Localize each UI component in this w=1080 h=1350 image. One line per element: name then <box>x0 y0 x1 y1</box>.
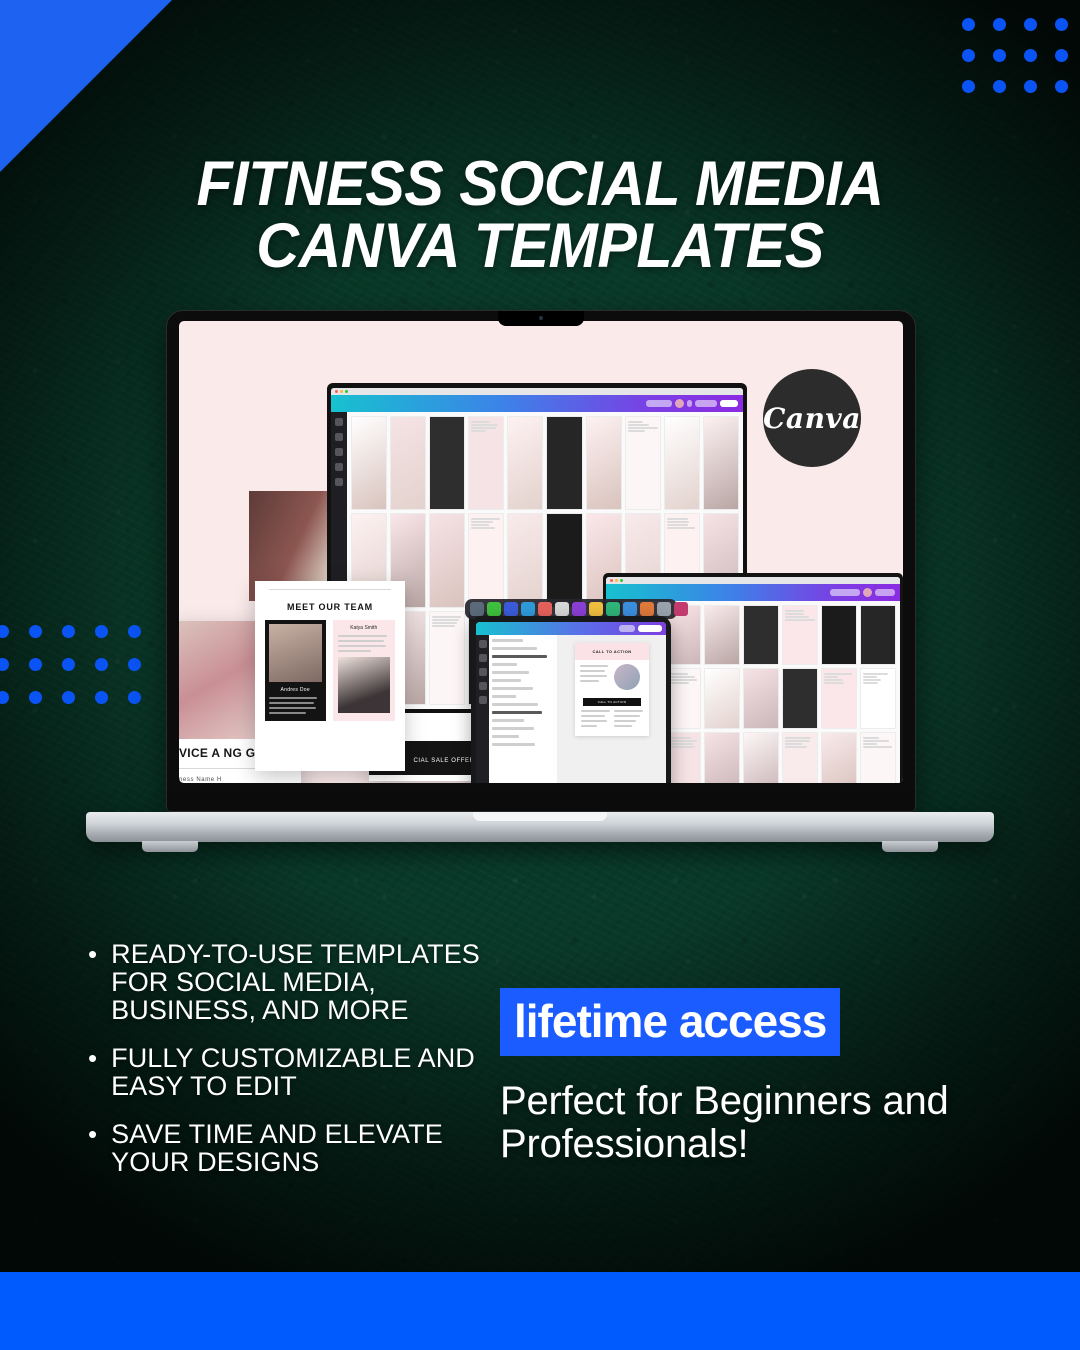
template-thumbnail <box>782 732 818 783</box>
lifetime-access-badge: lifetime access <box>500 988 840 1056</box>
template-thumbnail <box>860 732 896 783</box>
bullet-marker-icon: • <box>88 1044 97 1100</box>
dock-app-icon <box>657 602 671 616</box>
dock-app-icon <box>538 602 552 616</box>
template-thumbnail <box>507 513 543 607</box>
cta-header: CALL TO ACTION <box>575 643 649 660</box>
template-thumbnail <box>860 668 896 728</box>
promo-tagline: Perfect for Beginners and Professionals! <box>500 1080 980 1166</box>
laptop-base-notch <box>473 812 607 821</box>
flyer-team-title: MEET OUR TEAM <box>255 590 405 620</box>
decor-dot <box>1055 18 1068 31</box>
laptop-mockup: Canva VICE A NG GU ness Name H yourwebsi… <box>166 310 914 842</box>
decor-dot <box>962 18 975 31</box>
decor-dot <box>1055 80 1068 93</box>
cta-image <box>614 664 640 690</box>
template-thumbnail <box>390 416 426 510</box>
decor-dot <box>95 625 108 638</box>
bullet-text: FULLY CUSTOMIZABLE AND EASY TO EDIT <box>111 1044 488 1100</box>
decor-dot <box>962 49 975 62</box>
laptop-foot-left <box>142 841 198 852</box>
bullet-marker-icon: • <box>88 940 97 1024</box>
canva-logo: Canva <box>763 369 861 467</box>
feature-bullet-list: •READY-TO-USE TEMPLATES FOR SOCIAL MEDIA… <box>88 940 488 1197</box>
decor-dot <box>128 691 141 704</box>
template-thumbnail <box>468 416 504 510</box>
decor-dot <box>128 625 141 638</box>
team-photo-left <box>269 624 322 682</box>
template-thumbnail <box>704 605 740 665</box>
cta-button-label: CALL TO ACTION <box>598 700 627 704</box>
template-thumbnail <box>703 416 739 510</box>
webcam-icon <box>539 316 543 320</box>
promo-block: lifetime access Perfect for Beginners an… <box>500 988 980 1166</box>
decor-dot <box>1055 49 1068 62</box>
bullet-text: READY-TO-USE TEMPLATES FOR SOCIAL MEDIA,… <box>111 940 488 1024</box>
template-thumbnail <box>664 416 700 510</box>
decor-dot <box>1024 18 1037 31</box>
team-photo-right <box>338 657 391 713</box>
template-thumbnail <box>704 668 740 728</box>
dock-app-icon <box>623 602 637 616</box>
template-thumbnail <box>429 416 465 510</box>
flyer-business-name: ness Name H <box>179 777 293 783</box>
dock-app-icon <box>640 602 654 616</box>
template-thumbnail <box>429 513 465 607</box>
flyer-meet-our-team: MEET OUR TEAM Andres Doe Katya Smith <box>255 581 405 771</box>
template-thumbnail <box>860 605 896 665</box>
template-thumbnail <box>743 668 779 728</box>
tablet-sidebar <box>476 635 489 783</box>
decor-dot <box>0 625 9 638</box>
dock-app-icon <box>521 602 535 616</box>
dock-app-icon <box>572 602 586 616</box>
bullet-item-2: •FULLY CUSTOMIZABLE AND EASY TO EDIT <box>88 1044 488 1100</box>
cta-title: CALL TO ACTION <box>592 649 631 654</box>
decor-dot <box>62 658 75 671</box>
decor-dot <box>128 658 141 671</box>
bullet-text: SAVE TIME AND ELEVATE YOUR DESIGNS <box>111 1120 488 1176</box>
browser-chrome <box>331 388 743 395</box>
template-thumbnail <box>507 416 543 510</box>
canva-logo-text: Canva <box>763 402 861 435</box>
decor-dot <box>62 691 75 704</box>
headline-line-1: FITNESS SOCIAL MEDIA <box>196 149 883 219</box>
canva-toolbar <box>331 395 743 412</box>
decor-dot <box>29 658 42 671</box>
team-member-right: Katya Smith <box>333 620 396 721</box>
decor-dot <box>29 625 42 638</box>
tablet-toolbar <box>476 622 666 635</box>
template-thumbnail <box>821 668 857 728</box>
template-thumbnail <box>429 611 465 705</box>
laptop-foot-right <box>882 841 938 852</box>
template-thumbnail <box>821 605 857 665</box>
template-thumbnail <box>743 732 779 783</box>
decor-dot <box>0 691 9 704</box>
cta-button: CALL TO ACTION <box>583 698 641 706</box>
tablet-mockup: CALL TO ACTION <box>471 616 671 783</box>
team-name-right: Katya Smith <box>338 625 391 635</box>
headline-line-2: CANVA TEMPLATES <box>32 216 1047 278</box>
tablet-canvas: CALL TO ACTION <box>558 635 666 783</box>
template-thumbnail <box>782 605 818 665</box>
dot-grid-top-right <box>0 0 1080 120</box>
decor-dot <box>95 658 108 671</box>
template-thumbnail <box>782 668 818 728</box>
template-thumbnail <box>821 732 857 783</box>
decor-dot <box>29 691 42 704</box>
dock-app-icon <box>470 602 484 616</box>
template-thumbnail <box>351 416 387 510</box>
decor-dot <box>0 658 9 671</box>
flyer-client-offer: CIAL SALE OFFER <box>413 758 474 764</box>
template-thumbnail <box>468 513 504 607</box>
bullet-marker-icon: • <box>88 1120 97 1176</box>
template-thumbnail <box>625 416 661 510</box>
decor-dot <box>62 625 75 638</box>
decor-dot <box>993 18 1006 31</box>
page-title: FITNESS SOCIAL MEDIA CANVA TEMPLATES <box>32 154 1047 277</box>
decor-dot <box>95 691 108 704</box>
team-name-left: Andres Doe <box>269 682 322 697</box>
dock-app-icon <box>487 602 501 616</box>
dock-app-icon <box>589 602 603 616</box>
template-thumbnail <box>586 416 622 510</box>
laptop-base <box>86 812 994 842</box>
dock-app-icon <box>555 602 569 616</box>
bottom-accent-bar <box>0 1272 1080 1350</box>
dock-app-icon <box>606 602 620 616</box>
bullet-item-1: •READY-TO-USE TEMPLATES FOR SOCIAL MEDIA… <box>88 940 488 1024</box>
decor-dot <box>993 49 1006 62</box>
decor-dot <box>1024 49 1037 62</box>
template-thumbnail <box>546 513 582 607</box>
decor-dot <box>1024 80 1037 93</box>
laptop-lid: Canva VICE A NG GU ness Name H yourwebsi… <box>166 310 916 812</box>
browser-chrome-2 <box>606 577 900 584</box>
dock-app-icon <box>504 602 518 616</box>
decor-dot <box>993 80 1006 93</box>
template-thumbnail <box>704 732 740 783</box>
cta-document: CALL TO ACTION <box>575 643 649 736</box>
font-list-panel <box>489 635 558 783</box>
team-member-left: Andres Doe <box>265 620 326 721</box>
template-thumbnail <box>743 605 779 665</box>
laptop-screen: Canva VICE A NG GU ness Name H yourwebsi… <box>179 321 903 783</box>
decor-dot <box>962 80 975 93</box>
template-thumbnail <box>546 416 582 510</box>
dock-app-icon <box>674 602 688 616</box>
bullet-item-3: •SAVE TIME AND ELEVATE YOUR DESIGNS <box>88 1120 488 1176</box>
